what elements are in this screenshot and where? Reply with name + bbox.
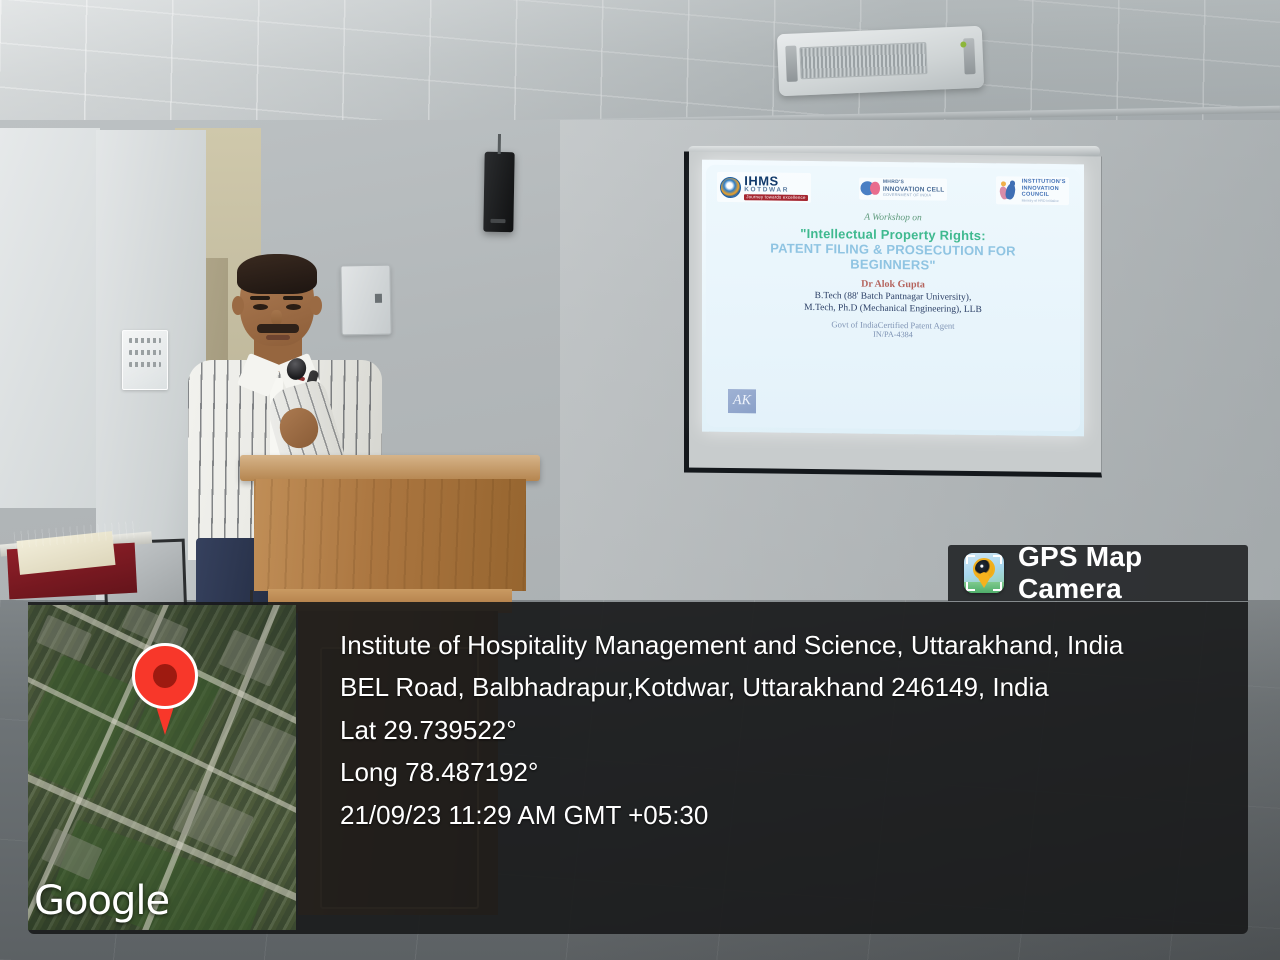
- slide-workshop-label: A Workshop on: [864, 213, 922, 224]
- presenter-hair: [237, 254, 317, 294]
- iic-logo-line4: Ministry of HRD Initiative: [1022, 199, 1066, 204]
- mhrd-logo-line3: GOVERNMENT OF INDIA: [883, 193, 945, 198]
- slide-registration-number: IN/PA-4384: [873, 330, 913, 339]
- gps-map-camera-banner: GPS Map Camera: [948, 545, 1248, 601]
- location-latitude: Lat 29.739522°: [340, 709, 1240, 751]
- plaque-line: [129, 350, 161, 355]
- presenter-eye-left: [253, 304, 268, 310]
- wall-speaker: [483, 152, 514, 233]
- slide-logo-row: IHMS KOTDWAR Journey towards excellence …: [717, 170, 1069, 208]
- presenter-eye-right: [286, 304, 301, 310]
- ac-grille: [799, 42, 927, 79]
- ihms-emblem-icon: [720, 176, 741, 197]
- presentation-slide: IHMS KOTDWAR Journey towards excellence …: [706, 165, 1080, 432]
- slide-presenter-name: Dr Alok Gupta: [861, 279, 925, 291]
- presenter-eyebrow-left: [250, 296, 270, 300]
- podium-body: [254, 479, 526, 591]
- location-timestamp: 21/09/23 11:29 AM GMT +05:30: [340, 794, 1240, 836]
- side-desk: [0, 512, 160, 608]
- pin-center-dot: [153, 664, 177, 688]
- ceiling-ac-unit: [777, 26, 984, 97]
- podium-top: [240, 455, 540, 481]
- google-watermark: Google: [34, 878, 169, 924]
- screen-surface: IHMS KOTDWAR Journey towards excellence …: [702, 160, 1084, 437]
- plaque-line: [129, 362, 161, 367]
- gps-map-camera-photo: IHMS KOTDWAR Journey towards excellence …: [0, 0, 1280, 960]
- slide-title-line3: BEGINNERS": [850, 256, 935, 272]
- map-thumbnail[interactable]: Google: [28, 605, 296, 930]
- location-info-text: Institute of Hospitality Management and …: [340, 624, 1240, 836]
- slide-title-line2: PATENT FILING & PROSECUTION FOR: [770, 241, 1016, 259]
- ihms-logo-tagline: Journey towards excellence: [744, 194, 807, 200]
- gps-map-camera-icon: [964, 553, 1004, 593]
- plaque-line: [129, 338, 161, 343]
- slide-signature-logo: AK: [728, 389, 756, 413]
- left-wall: [0, 128, 100, 508]
- icon-corner-bottom-right: [993, 582, 1002, 591]
- presenter-moustache: [257, 324, 299, 333]
- icon-corner-top-left: [966, 555, 975, 564]
- location-longitude: Long 78.487192°: [340, 751, 1240, 793]
- presenter-ear-right: [310, 296, 322, 315]
- presenter-mouth: [266, 335, 290, 340]
- iic-figure-blue-icon: [1004, 183, 1016, 201]
- iic-figures-icon: [999, 180, 1019, 200]
- icon-corner-top-right: [993, 555, 1002, 564]
- slide-credential-line1: B.Tech (88' Batch Pantnagar University),: [815, 291, 972, 303]
- presenter-nose: [271, 310, 282, 325]
- logo-institutions-innovation-council: INSTITUTION'S INNOVATION COUNCIL Ministr…: [996, 176, 1069, 205]
- logo-ihms: IHMS KOTDWAR Journey towards excellence: [717, 172, 810, 203]
- location-address: BEL Road, Balbhadrapur,Kotdwar, Uttarakh…: [340, 666, 1240, 708]
- map-location-pin-icon: [132, 643, 198, 735]
- location-place-name: Institute of Hospitality Management and …: [340, 624, 1240, 666]
- ac-vent-left: [785, 46, 797, 82]
- mhrd-brain-gear-icon: [862, 181, 880, 197]
- podium-wood-grain: [254, 479, 526, 591]
- presenter-eyebrow-right: [283, 296, 303, 300]
- slide-credential-line2: M.Tech, Ph.D (Mechanical Engineering), L…: [804, 303, 982, 315]
- icon-corner-bottom-left: [966, 582, 975, 591]
- presenter-ear-left: [232, 296, 244, 315]
- wall-plaque: [122, 330, 168, 390]
- speaker-label: [490, 219, 505, 223]
- projector-screen: IHMS KOTDWAR Journey towards excellence …: [684, 146, 1100, 474]
- gps-app-brand-label: GPS Map Camera: [1018, 541, 1248, 605]
- brain-icon: [870, 182, 880, 195]
- logo-mhrd-innovation-cell: MHRD'S INNOVATION CELL GOVERNMENT OF IND…: [859, 178, 948, 201]
